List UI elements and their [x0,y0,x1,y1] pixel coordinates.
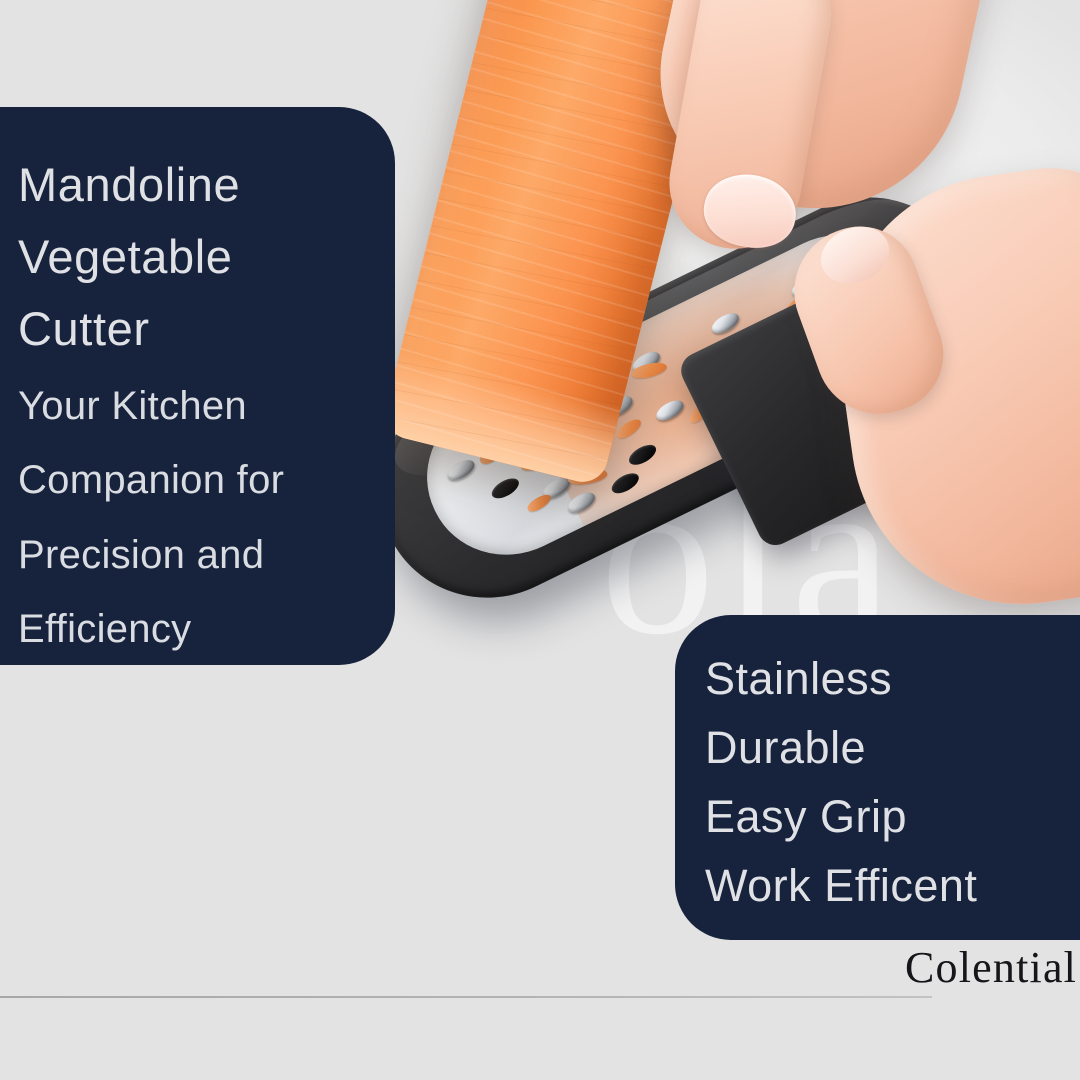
features-panel: Stainless Durable Easy Grip Work Efficen… [675,615,1080,940]
finger-upper [659,0,841,259]
brand-logo: Colential [905,942,1077,993]
carrot-icon [380,0,768,487]
footer-divider [0,996,932,998]
finger-lower [776,210,959,432]
grater-rim [343,161,1012,635]
headline-line-2: Vegetable [18,221,365,293]
subheadline-line-3: Precision and [18,522,365,588]
features-list: Stainless Durable Easy Grip Work Efficen… [705,645,977,920]
fingernail-lower [812,217,897,293]
grater-tool-icon [343,161,1012,635]
photo-backdrop [300,0,1080,710]
subheadline-line-2: Companion for [18,447,365,513]
feature-item: Stainless [705,645,977,714]
fingernail-upper [698,168,801,255]
headline-line-3: Cutter [18,293,365,365]
hand-upper [636,0,1027,236]
promo-canvas: ola [0,0,1080,1080]
grater-handle [675,231,1037,551]
title-panel-content: Mandoline Vegetable Cutter Your Kitchen … [18,149,365,662]
carrot-cut-end [380,351,622,488]
hand-lower [817,154,1080,626]
grater-blade-plate [401,208,947,582]
subheadline-line-1: Your Kitchen [18,373,365,439]
product-photo [300,0,1080,710]
title-panel: Mandoline Vegetable Cutter Your Kitchen … [0,107,395,665]
feature-item: Easy Grip [705,783,977,852]
grater-holes [401,208,947,582]
feature-item: Durable [705,714,977,783]
headline-line-1: Mandoline [18,149,365,221]
subheadline-line-4: Efficiency [18,596,365,662]
feature-item: Work Efficent [705,852,977,921]
